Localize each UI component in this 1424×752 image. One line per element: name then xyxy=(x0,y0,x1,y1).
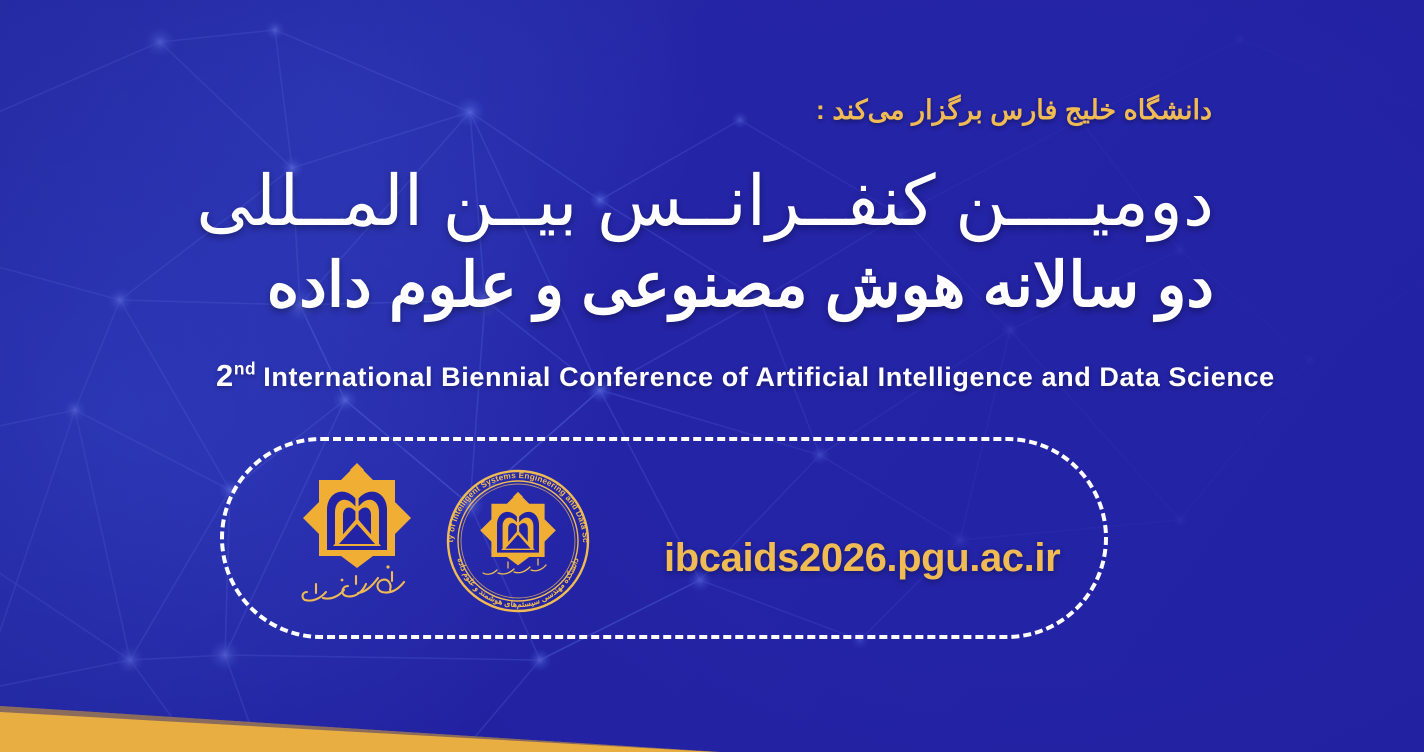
faculty-seal-logo: Faculty of Intelligent Systems Engineeri… xyxy=(434,465,602,613)
subtitle-english: 2ndInternational Biennial Conference of … xyxy=(216,358,1275,394)
page-title-line-1: دومیــــن کنفــرانــس بیــن المــللی xyxy=(0,164,1214,240)
organizer-kicker: دانشگاه خلیج فارس برگزار می‌کند : xyxy=(816,95,1212,126)
subtitle-ordinal-suffix: nd xyxy=(234,359,256,379)
gold-diagonal-wedge xyxy=(0,692,720,752)
conference-poster: دانشگاه خلیج فارس برگزار می‌کند : دومیــ… xyxy=(0,0,1424,752)
website-url[interactable]: ibcaids2026.pgu.ac.ir xyxy=(664,536,1060,581)
subtitle-text: International Biennial Conference of Art… xyxy=(263,362,1274,392)
university-logo-caption xyxy=(303,572,404,601)
subtitle-ordinal: 2nd xyxy=(216,358,256,393)
page-title-line-2: دو سالانه هوش مصنوعی و علوم داده xyxy=(0,253,1214,320)
persian-gulf-university-logo xyxy=(296,460,418,610)
subtitle-ordinal-number: 2 xyxy=(216,358,234,393)
